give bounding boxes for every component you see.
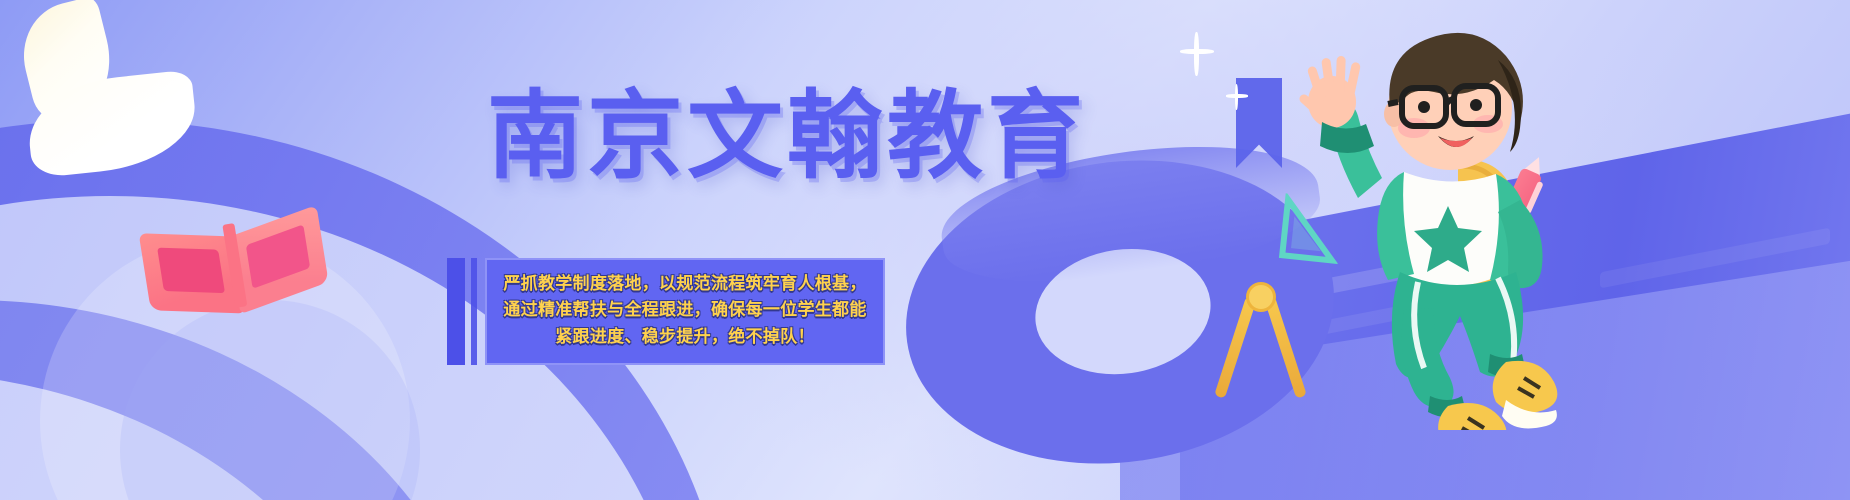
banner-title: 南京文翰教育: [487, 58, 1087, 197]
education-banner: 南京文翰教育 严抓教学制度落地，以规范流程筑牢育人根基，通过精准帮扶与全程跟进，…: [0, 0, 1850, 500]
subtitle-accent-bar-thin: [471, 258, 477, 365]
banner-subtitle-block: 严抓教学制度落地，以规范流程筑牢育人根基，通过精准帮扶与全程跟进，确保每一位学生…: [447, 258, 885, 365]
subtitle-box: 严抓教学制度落地，以规范流程筑牢育人根基，通过精准帮扶与全程跟进，确保每一位学生…: [485, 258, 885, 365]
subtitle-accent-bar: [447, 258, 465, 365]
banner-subtitle-text: 严抓教学制度落地，以规范流程筑牢育人根基，通过精准帮扶与全程跟进，确保每一位学生…: [501, 271, 869, 350]
compass-leg-left: [1214, 296, 1257, 398]
student-character-illustration: [1262, 10, 1602, 430]
book-left-page: [157, 248, 225, 294]
